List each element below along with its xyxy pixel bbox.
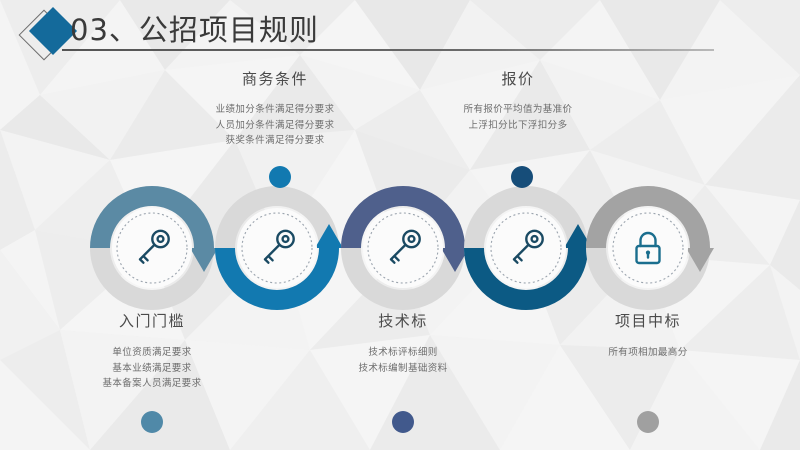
block-line: 所有报价平均值为基准价 <box>428 102 608 118</box>
accent-dot <box>392 411 414 433</box>
block-line: 业绩加分条件满足得分要求 <box>185 102 365 118</box>
process-step-row <box>0 186 800 312</box>
accent-dot <box>141 411 163 433</box>
block-line: 技术标编制基础资料 <box>313 361 493 377</box>
slide-header: 03、公招项目规则 <box>0 0 800 66</box>
accent-dot <box>637 411 659 433</box>
accent-dot <box>511 166 533 188</box>
block-title: 报价 <box>428 68 608 89</box>
text-block-entry-threshold: 入门门槛 单位资质满足要求 基本业绩满足要求 基本备案人员满足要求 <box>62 310 242 392</box>
block-title: 商务条件 <box>185 68 365 89</box>
text-block-business-conditions: 商务条件 业绩加分条件满足得分要求 人员加分条件满足得分要求 获奖条件满足得分要… <box>185 68 365 149</box>
process-step-technical-bid[interactable] <box>341 186 465 310</box>
process-step-project-award[interactable] <box>586 186 710 310</box>
block-line: 上浮扣分比下浮扣分多 <box>428 118 608 134</box>
block-line: 基本备案人员满足要求 <box>62 376 242 392</box>
block-line: 基本业绩满足要求 <box>62 361 242 377</box>
block-line: 人员加分条件满足得分要求 <box>185 118 365 134</box>
process-step-quotation[interactable] <box>464 186 588 310</box>
process-step-entry-threshold[interactable] <box>90 186 214 310</box>
text-block-quotation: 报价 所有报价平均值为基准价 上浮扣分比下浮扣分多 <box>428 68 608 133</box>
page-title: 03、公招项目规则 <box>70 7 319 49</box>
block-line: 获奖条件满足得分要求 <box>185 133 365 149</box>
block-title: 入门门槛 <box>62 310 242 331</box>
process-step-business-conditions[interactable] <box>215 186 339 310</box>
block-title: 项目中标 <box>558 310 738 331</box>
block-title: 技术标 <box>313 310 493 331</box>
text-block-technical-bid: 技术标 技术标评标细则 技术标编制基础资料 <box>313 310 493 376</box>
slide-canvas: 03、公招项目规则 商务条件 业绩加分条件满足得分要求 人员加分条件满足得分要求… <box>0 0 800 450</box>
accent-dot <box>269 166 291 188</box>
block-line: 单位资质满足要求 <box>62 345 242 361</box>
block-line: 所有项相加最高分 <box>558 345 738 361</box>
text-block-project-award: 项目中标 所有项相加最高分 <box>558 310 738 361</box>
title-underline <box>62 49 714 51</box>
block-line: 技术标评标细则 <box>313 345 493 361</box>
